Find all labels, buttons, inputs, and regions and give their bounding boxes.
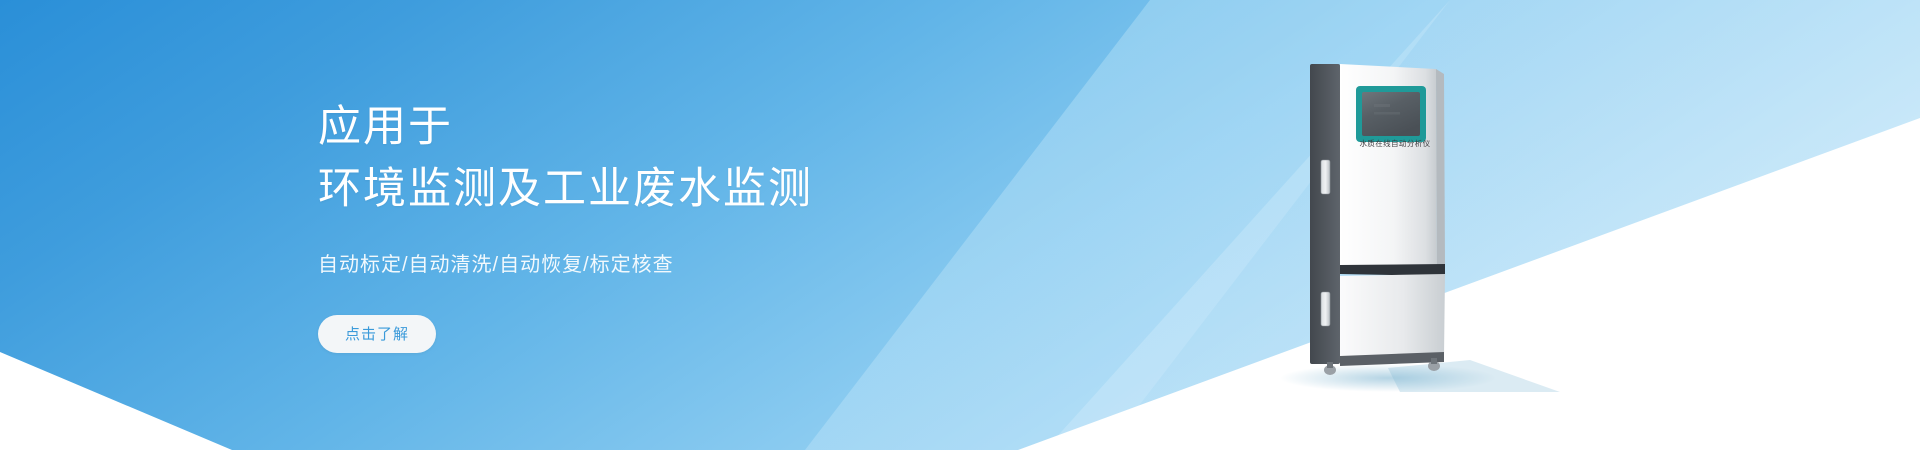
headline-line-1: 应用于	[318, 97, 1078, 158]
cta-container: 点击了解	[318, 315, 1078, 353]
hero-banner: 应用于 环境监测及工业废水监测 自动标定/自动清洗/自动恢复/标定核查 点击了解	[0, 0, 1920, 450]
banner-subtitle: 自动标定/自动清洗/自动恢复/标定核查	[318, 248, 1078, 277]
banner-content: 应用于 环境监测及工业废水监测 自动标定/自动清洗/自动恢复/标定核查 点击了解	[318, 0, 1078, 450]
learn-more-button[interactable]: 点击了解	[318, 315, 436, 353]
page-title: 应用于 环境监测及工业废水监测	[318, 97, 1078, 219]
product-image-analyzer	[1304, 60, 1472, 380]
headline-line-2: 环境监测及工业废水监测	[318, 159, 1078, 220]
